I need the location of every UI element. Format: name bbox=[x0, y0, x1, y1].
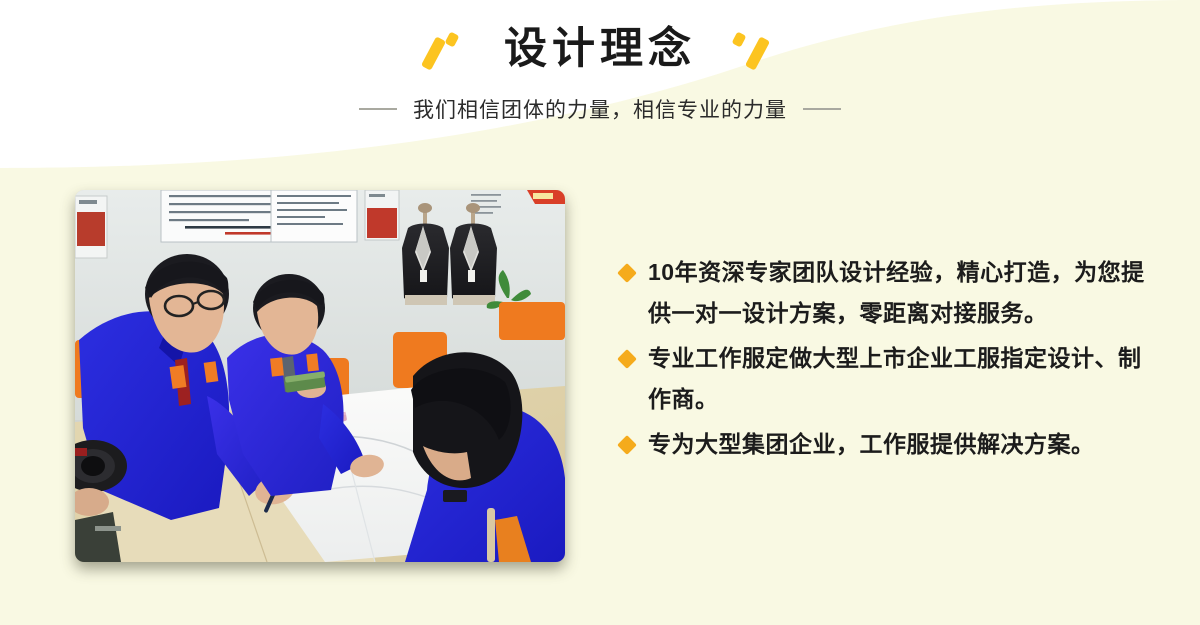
list-item-text: 专为大型集团企业，工作服提供解决方案。 bbox=[618, 424, 1163, 465]
feature-list: 10年资深专家团队设计经验，精心打造，为您提供一对一设计方案，零距离对接服务。 … bbox=[618, 252, 1163, 469]
list-item: 专业工作服定做大型上市企业工服指定设计、制作商。 bbox=[618, 338, 1163, 420]
quote-mark-right-icon bbox=[730, 27, 776, 71]
page-title: 设计理念 bbox=[504, 28, 696, 71]
subtitle-row: 我们相信团体的力量，相信专业的力量 bbox=[0, 94, 1200, 124]
page-subtitle: 我们相信团体的力量，相信专业的力量 bbox=[413, 94, 787, 124]
list-item-text: 专业工作服定做大型上市企业工服指定设计、制作商。 bbox=[618, 338, 1163, 420]
page-root: 设计理念 我们相信团体的力量，相信专业的力量 bbox=[0, 0, 1200, 625]
list-item: 专为大型集团企业，工作服提供解决方案。 bbox=[618, 424, 1163, 465]
quote-mark-left-icon bbox=[424, 27, 470, 71]
title-row: 设计理念 bbox=[0, 18, 1200, 80]
subtitle-dash-left-icon bbox=[359, 108, 397, 110]
list-item: 10年资深专家团队设计经验，精心打造，为您提供一对一设计方案，零距离对接服务。 bbox=[618, 252, 1163, 334]
list-item-text: 10年资深专家团队设计经验，精心打造，为您提供一对一设计方案，零距离对接服务。 bbox=[618, 252, 1163, 334]
team-design-photo bbox=[75, 190, 565, 562]
subtitle-dash-right-icon bbox=[803, 108, 841, 110]
header: 设计理念 我们相信团体的力量，相信专业的力量 bbox=[0, 0, 1200, 150]
